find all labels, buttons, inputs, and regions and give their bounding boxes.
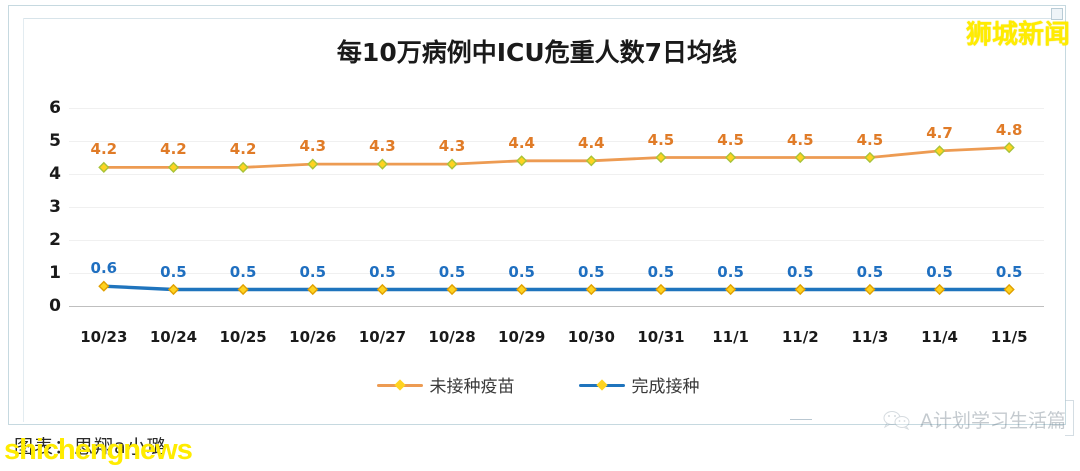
data-point-marker[interactable] xyxy=(865,285,874,294)
x-tick-label: 11/3 xyxy=(851,328,888,346)
data-point-marker[interactable] xyxy=(308,285,317,294)
data-point-marker[interactable] xyxy=(587,156,596,165)
data-label: 4.5 xyxy=(648,131,675,149)
legend-marker-blue xyxy=(579,378,625,392)
data-label: 0.5 xyxy=(857,263,884,281)
data-label: 0.5 xyxy=(230,263,257,281)
data-label: 4.2 xyxy=(230,140,257,158)
data-point-marker[interactable] xyxy=(378,285,387,294)
data-label: 4.5 xyxy=(717,131,744,149)
y-tick-label: 2 xyxy=(49,230,61,250)
data-point-marker[interactable] xyxy=(726,153,735,162)
data-point-marker[interactable] xyxy=(447,285,456,294)
x-tick-label: 11/2 xyxy=(782,328,819,346)
data-point-marker[interactable] xyxy=(447,160,456,169)
data-point-marker[interactable] xyxy=(935,285,944,294)
x-tick-label: 10/24 xyxy=(150,328,197,346)
data-label: 0.5 xyxy=(717,263,744,281)
data-point-marker[interactable] xyxy=(308,160,317,169)
wechat-icon xyxy=(882,410,912,430)
data-point-marker[interactable] xyxy=(239,163,248,172)
data-label: 0.5 xyxy=(926,263,953,281)
x-tick-label: 11/4 xyxy=(921,328,958,346)
data-point-marker[interactable] xyxy=(796,285,805,294)
x-tick-label: 10/23 xyxy=(80,328,127,346)
data-point-marker[interactable] xyxy=(169,285,178,294)
data-label: 4.5 xyxy=(787,131,814,149)
x-tick-label: 11/1 xyxy=(712,328,749,346)
x-tick-label: 10/29 xyxy=(498,328,545,346)
data-label: 0.5 xyxy=(439,263,466,281)
x-tick-label: 10/31 xyxy=(637,328,684,346)
data-label: 0.5 xyxy=(996,263,1023,281)
data-point-marker[interactable] xyxy=(99,163,108,172)
data-label: 4.3 xyxy=(439,137,466,155)
data-point-marker[interactable] xyxy=(656,285,665,294)
data-point-marker[interactable] xyxy=(865,153,874,162)
data-label: 0.5 xyxy=(648,263,675,281)
legend-item-unvaccinated[interactable]: 未接种疫苗 xyxy=(377,372,515,397)
series-svg xyxy=(69,108,1044,306)
plot-area: 4.24.24.24.34.34.34.44.44.54.54.54.54.74… xyxy=(69,108,1044,306)
data-point-marker[interactable] xyxy=(726,285,735,294)
y-tick-label: 0 xyxy=(49,296,61,316)
x-tick-label: 11/5 xyxy=(991,328,1028,346)
data-label: 4.4 xyxy=(578,134,605,152)
data-point-marker[interactable] xyxy=(169,163,178,172)
data-label: 0.5 xyxy=(578,263,605,281)
watermark-rule xyxy=(790,419,812,420)
data-label: 0.5 xyxy=(160,263,187,281)
x-tick-label: 10/25 xyxy=(219,328,266,346)
data-label: 4.2 xyxy=(91,140,118,158)
watermark-bottom-right: A计划学习生活篇 xyxy=(882,406,1066,433)
x-axis-ticks: 10/2310/2410/2510/2610/2710/2810/2910/30… xyxy=(69,328,1044,352)
chart-object-frame[interactable]: 每10万病例中ICU危重人数7日均线 0123456 4.24.24.24.34… xyxy=(8,5,1066,425)
data-point-marker[interactable] xyxy=(239,285,248,294)
data-label: 0.5 xyxy=(787,263,814,281)
data-label: 4.2 xyxy=(160,140,187,158)
chart-title: 每10万病例中ICU危重人数7日均线 xyxy=(9,33,1065,69)
data-point-marker[interactable] xyxy=(656,153,665,162)
data-label: 4.3 xyxy=(299,137,326,155)
data-point-marker[interactable] xyxy=(378,160,387,169)
data-label: 0.5 xyxy=(369,263,396,281)
data-label: 0.6 xyxy=(91,259,118,277)
data-label: 4.4 xyxy=(508,134,535,152)
data-point-marker[interactable] xyxy=(1005,143,1014,152)
x-tick-label: 10/28 xyxy=(428,328,475,346)
y-tick-label: 4 xyxy=(49,164,61,184)
y-tick-label: 1 xyxy=(49,263,61,283)
watermark-bottom-left: shichengnews xyxy=(4,434,192,467)
data-point-marker[interactable] xyxy=(796,153,805,162)
y-tick-label: 5 xyxy=(49,131,61,151)
gridline-0 xyxy=(69,306,1044,307)
data-point-marker[interactable] xyxy=(935,146,944,155)
x-tick-label: 10/27 xyxy=(359,328,406,346)
frame-top-rule xyxy=(23,18,1053,19)
legend-label-vaccinated: 完成接种 xyxy=(632,372,700,397)
legend-marker-orange xyxy=(377,378,423,392)
y-tick-label: 3 xyxy=(49,197,61,217)
x-tick-label: 10/26 xyxy=(289,328,336,346)
watermark-bottom-right-label: A计划学习生活篇 xyxy=(920,406,1066,433)
data-point-marker[interactable] xyxy=(587,285,596,294)
legend-label-unvaccinated: 未接种疫苗 xyxy=(430,372,515,397)
frame-left-rule xyxy=(23,18,24,422)
x-tick-label: 10/30 xyxy=(568,328,615,346)
data-point-marker[interactable] xyxy=(1005,285,1014,294)
y-axis-ticks: 0123456 xyxy=(35,108,61,306)
data-point-marker[interactable] xyxy=(517,285,526,294)
data-label: 4.5 xyxy=(857,131,884,149)
watermark-bracket xyxy=(1065,400,1074,436)
data-label: 0.5 xyxy=(299,263,326,281)
data-label: 4.7 xyxy=(926,124,953,142)
data-label: 0.5 xyxy=(508,263,535,281)
data-label: 4.3 xyxy=(369,137,396,155)
data-point-marker[interactable] xyxy=(99,282,108,291)
watermark-top-right: 狮城新闻 xyxy=(966,14,1070,51)
y-tick-label: 6 xyxy=(49,98,61,118)
legend-item-vaccinated[interactable]: 完成接种 xyxy=(579,372,700,397)
data-label: 4.8 xyxy=(996,121,1023,139)
data-point-marker[interactable] xyxy=(517,156,526,165)
chart-legend: 未接种疫苗 完成接种 xyxy=(9,372,1067,397)
